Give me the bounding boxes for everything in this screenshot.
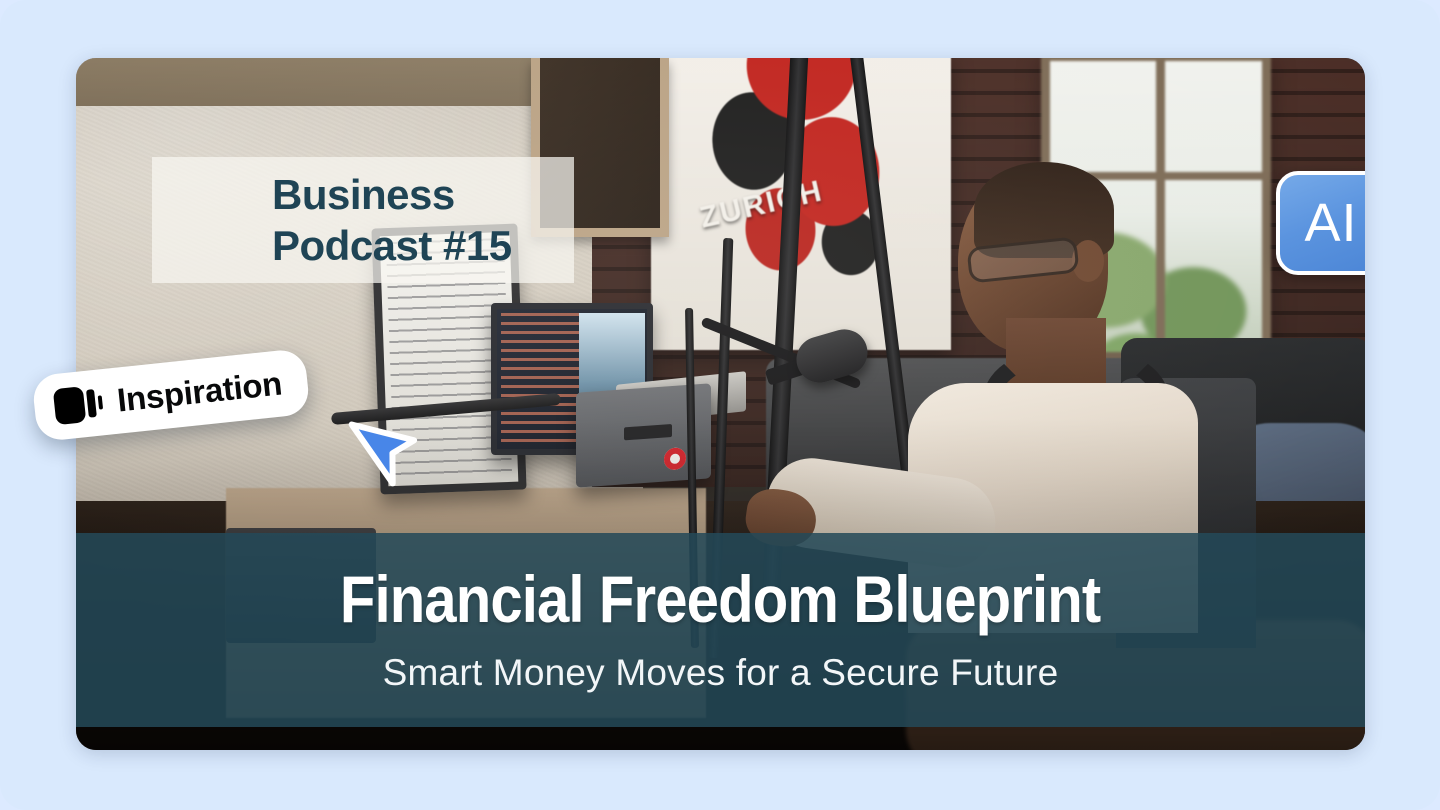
episode-title-plate: Business Podcast #15	[152, 157, 574, 283]
preview-stage: ZURICH	[0, 0, 1440, 810]
ai-button-label: AI	[1304, 196, 1357, 250]
laptop-round-sticker	[664, 447, 686, 471]
code-editor-pane	[501, 313, 579, 442]
ai-button[interactable]: AI	[1276, 171, 1365, 275]
inspiration-chip-label: Inspiration	[115, 364, 283, 419]
episode-title-line2: Podcast #15	[272, 220, 574, 271]
video-clip-icon	[53, 382, 105, 427]
cover-headline: Financial Freedom Blueprint	[340, 566, 1100, 632]
laptop-sticker	[624, 424, 672, 440]
cover-subheadline: Smart Money Moves for a Secure Future	[383, 652, 1059, 694]
episode-title-line1: Business	[272, 169, 574, 220]
caption-band: Financial Freedom Blueprint Smart Money …	[76, 533, 1365, 727]
